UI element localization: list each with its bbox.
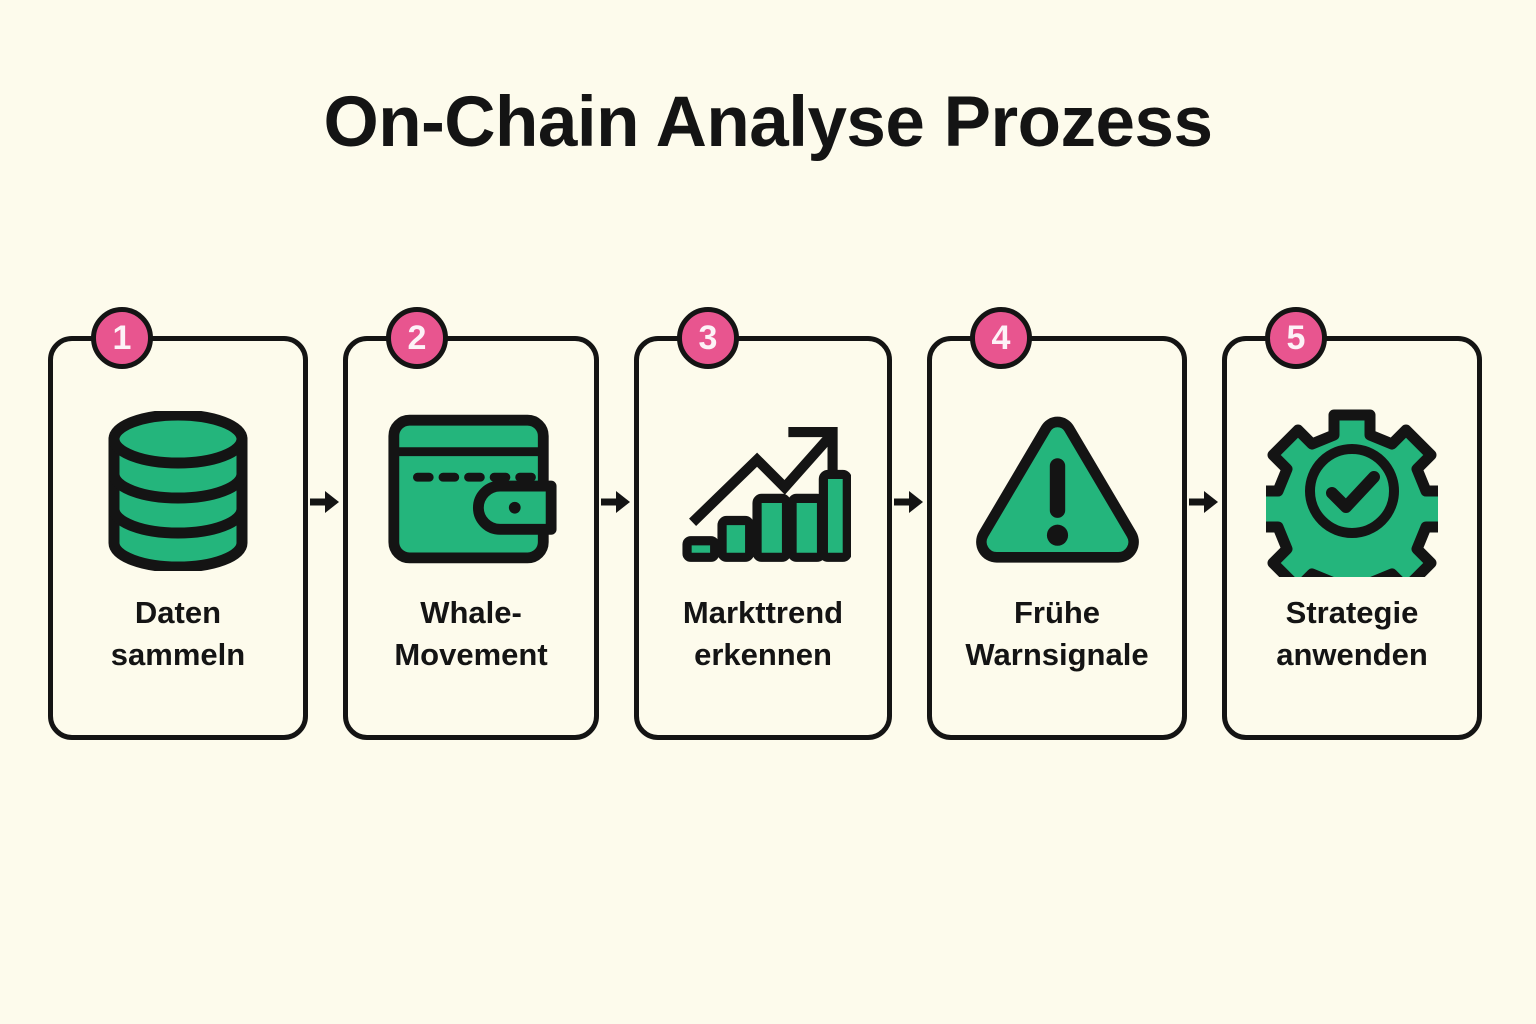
page-title: On-Chain Analyse Prozess — [0, 82, 1536, 163]
step-card-1[interactable]: 1 Daten sammeln — [48, 336, 308, 740]
arrow-right-icon — [1187, 488, 1222, 516]
step-card-4[interactable]: 4 Frühe Warnsignale — [927, 336, 1187, 740]
gear-check-icon — [1265, 403, 1440, 578]
step-badge-3: 3 — [677, 307, 739, 369]
connector-2-3 — [599, 336, 634, 740]
wallet-icon — [384, 403, 559, 578]
connector-4-5 — [1187, 336, 1222, 740]
step-label-4-line1: Frühe — [937, 592, 1177, 634]
step-label-3-line2: erkennen — [643, 634, 883, 676]
warning-triangle-icon — [970, 403, 1145, 578]
step-badge-4: 4 — [970, 307, 1032, 369]
process-flow: 1 Daten sammeln 2 — [48, 336, 1488, 744]
step-label-3-line1: Markttrend — [643, 592, 883, 634]
step-label-2-line2: Movement — [351, 634, 591, 676]
arrow-right-icon — [308, 488, 343, 516]
step-label-1-line1: Daten — [58, 592, 298, 634]
step-label-4: Frühe Warnsignale — [937, 592, 1177, 676]
connector-3-4 — [892, 336, 927, 740]
step-badge-1: 1 — [91, 307, 153, 369]
step-label-5-line1: Strategie — [1232, 592, 1472, 634]
step-label-1-line2: sammeln — [58, 634, 298, 676]
arrow-right-icon — [892, 488, 927, 516]
step-label-2-line1: Whale- — [351, 592, 591, 634]
step-label-3: Markttrend erkennen — [643, 592, 883, 676]
step-label-2: Whale- Movement — [351, 592, 591, 676]
database-icon — [91, 403, 266, 578]
bar-chart-trend-up-icon — [676, 403, 851, 578]
arrow-right-icon — [599, 488, 634, 516]
step-label-1: Daten sammeln — [58, 592, 298, 676]
step-card-3[interactable]: 3 Markttrend erkennen — [634, 336, 892, 740]
connector-1-2 — [308, 336, 343, 740]
step-badge-5: 5 — [1265, 307, 1327, 369]
infographic-canvas: On-Chain Analyse Prozess 1 Daten sammeln — [0, 0, 1536, 1024]
step-card-2[interactable]: 2 Whale- Movement — [343, 336, 599, 740]
step-badge-2: 2 — [386, 307, 448, 369]
step-label-5-line2: anwenden — [1232, 634, 1472, 676]
step-label-4-line2: Warnsignale — [937, 634, 1177, 676]
step-label-5: Strategie anwenden — [1232, 592, 1472, 676]
step-card-5[interactable]: 5 Strategie anwenden — [1222, 336, 1482, 740]
